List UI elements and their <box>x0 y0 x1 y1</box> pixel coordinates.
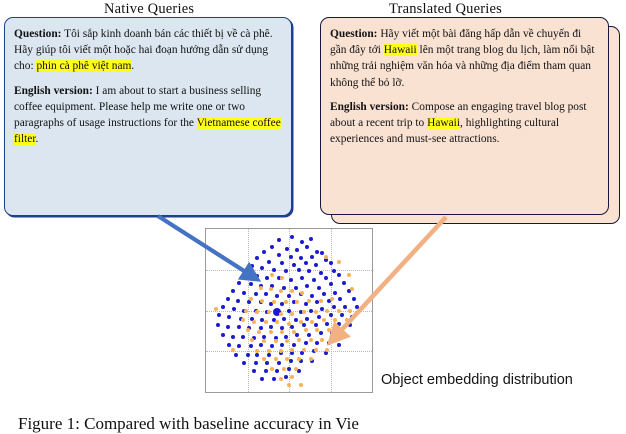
scatter-point <box>304 261 308 265</box>
scatter-point <box>295 300 299 304</box>
scatter-point <box>350 315 354 319</box>
scatter-point <box>277 238 281 242</box>
scatter-point <box>264 292 268 296</box>
scatter-point <box>337 309 341 313</box>
native-question-highlight: phin cà phê việt nam <box>36 60 131 72</box>
scatter-point <box>255 256 259 260</box>
scatter-point <box>242 291 246 295</box>
scatter-point <box>337 273 341 277</box>
scatter-point <box>290 235 294 239</box>
scatter-point <box>294 286 298 290</box>
scatter-point <box>290 289 294 293</box>
scatter-point <box>216 323 220 327</box>
scatter-point <box>257 330 261 334</box>
scatter-point <box>300 240 304 244</box>
scatter-point <box>272 377 276 381</box>
scatter-point <box>329 282 333 286</box>
scatter-point <box>330 331 334 335</box>
scatter-point <box>309 237 313 241</box>
scatter-point <box>287 322 291 326</box>
scatter-point <box>265 361 269 365</box>
scatter-point <box>300 276 304 280</box>
scatter-point <box>270 344 274 348</box>
scatter-point <box>252 320 256 324</box>
translated-english-highlight: Hawaii <box>427 117 460 129</box>
scatter-point <box>262 335 266 339</box>
scatter-point <box>226 297 230 301</box>
scatter-point <box>307 299 311 303</box>
figure-caption: Figure 1: Compared with baseline accurac… <box>18 414 359 434</box>
scatter-point <box>254 292 258 296</box>
scatter-point <box>231 348 235 352</box>
scatter-point <box>255 349 259 353</box>
scatter-point <box>345 318 349 322</box>
scatter-point <box>282 367 286 371</box>
native-question-label: Question: <box>14 28 61 40</box>
scatter-point <box>347 273 351 277</box>
scatter-point <box>242 361 246 365</box>
translated-english-paragraph: English version: Compose an engaging tra… <box>330 99 599 148</box>
scatter-point <box>241 318 245 322</box>
scatter-point <box>343 305 347 309</box>
scatter-point <box>342 281 346 285</box>
native-queries-card[interactable]: Question: Tôi sắp kinh doanh bán các thi… <box>4 17 292 216</box>
scatter-point <box>300 291 304 295</box>
scatter-point <box>333 291 337 295</box>
scatter-point <box>237 281 241 285</box>
scatter-point <box>267 310 271 314</box>
object-embedding-scatter-plot <box>205 228 373 393</box>
scatter-point <box>280 330 284 334</box>
scatter-point <box>302 348 306 352</box>
scatter-point <box>325 348 329 352</box>
scatter-point <box>237 325 241 329</box>
scatter-point <box>324 276 328 280</box>
scatter-point <box>314 323 318 327</box>
scatter-point <box>259 286 263 290</box>
scatter-point <box>320 338 324 342</box>
scatter-point <box>269 325 273 329</box>
scatter-point <box>324 255 328 259</box>
scatter-point <box>214 307 218 311</box>
scatter-point <box>280 276 284 280</box>
scatter-point <box>319 299 323 303</box>
scatter-point <box>231 335 235 339</box>
scatter-point <box>327 341 331 345</box>
scatter-point <box>294 318 298 322</box>
scatter-point <box>304 328 308 332</box>
scatter-point <box>342 333 346 337</box>
scatter-point <box>338 297 342 301</box>
scatter-point <box>305 317 309 321</box>
scatter-point <box>284 375 288 379</box>
scatter-point <box>289 255 293 259</box>
scatter-point <box>304 341 308 345</box>
scatter-point <box>262 250 266 254</box>
scatter-point <box>319 331 323 335</box>
scatter-point <box>314 263 318 267</box>
scatter-point <box>221 305 225 309</box>
scatter-point <box>250 338 254 342</box>
scatter-point <box>314 348 318 352</box>
scatter-point <box>327 328 331 332</box>
scatter-point <box>307 333 311 337</box>
scatter-point <box>312 278 316 282</box>
native-question-text-after: . <box>131 60 134 72</box>
scatter-point <box>340 313 344 317</box>
scatter-point <box>295 248 299 252</box>
scatter-point <box>246 353 250 357</box>
scatter-point <box>309 338 313 342</box>
scatter-point <box>299 320 303 324</box>
scatter-point <box>264 369 268 373</box>
scatter-point <box>337 343 341 347</box>
scatter-point <box>322 292 326 296</box>
native-queries-title: Native Queries <box>104 1 194 18</box>
scatter-point <box>246 328 250 332</box>
scatter-point <box>284 300 288 304</box>
scatter-point <box>315 250 319 254</box>
scatter-point <box>275 320 279 324</box>
scatter-point <box>307 269 311 273</box>
scatter-point <box>302 323 306 327</box>
scatter-point <box>250 264 254 268</box>
scatter-point <box>325 309 329 313</box>
scatter-point <box>279 312 283 316</box>
gridline-vertical <box>331 229 332 392</box>
scatter-point <box>299 383 303 387</box>
scatter-point <box>264 320 268 324</box>
scatter-point <box>329 313 333 317</box>
scatter-point <box>254 361 258 365</box>
native-english-label: English version: <box>14 85 93 97</box>
scatter-point <box>287 383 291 387</box>
scatter-point <box>292 343 296 347</box>
scatter-point <box>284 335 288 339</box>
scatter-point <box>236 299 240 303</box>
scatter-point <box>255 274 259 278</box>
scatter-point <box>310 255 314 259</box>
scatter-point <box>348 309 352 313</box>
scatter-point <box>290 312 294 316</box>
scatter-point <box>272 268 276 272</box>
scatter-point <box>275 294 279 298</box>
scatter-point <box>260 299 264 303</box>
scatter-point <box>270 245 274 249</box>
scatter-point <box>267 349 271 353</box>
scatter-point <box>315 341 319 345</box>
translated-question-paragraph: Question: Hãy viết một bài đăng hấp dẫn … <box>330 26 599 91</box>
scatter-point <box>249 282 253 286</box>
native-english-text-after: . <box>36 133 39 145</box>
scatter-point <box>310 294 314 298</box>
scatter-point <box>277 253 281 257</box>
scatter-point <box>317 315 321 319</box>
native-english-paragraph: English version: I am about to start a b… <box>14 83 282 148</box>
scatter-point <box>290 375 294 379</box>
scatter-point <box>249 344 253 348</box>
scatter-point <box>227 315 231 319</box>
scatter-point <box>337 322 341 326</box>
scatter-point <box>227 343 231 347</box>
scatter-point <box>275 369 279 373</box>
scatter-point <box>279 349 283 353</box>
scatter-point <box>314 310 318 314</box>
translated-question-highlight: Hawaii <box>384 44 417 56</box>
scatter-point <box>285 247 289 251</box>
scatter-point <box>221 333 225 337</box>
scatter-point <box>299 256 303 260</box>
scatter-point <box>249 297 253 301</box>
scatter-point <box>309 309 313 313</box>
scatter-point <box>330 297 334 301</box>
scatter-point <box>292 263 296 267</box>
scatter-point <box>267 353 271 357</box>
scatter-point <box>338 328 342 332</box>
scatter-point <box>297 268 301 272</box>
translated-question-label: Question: <box>330 28 377 40</box>
native-question-paragraph: Question: Tôi sắp kinh doanh bán các thi… <box>14 26 282 75</box>
translated-queries-title: Translated Queries <box>389 1 502 18</box>
scatter-point <box>259 343 263 347</box>
scatter-point <box>329 261 333 265</box>
scatter-point <box>355 305 359 309</box>
scatter-point <box>244 273 248 277</box>
scatter-point <box>269 330 273 334</box>
translated-queries-card[interactable]: Question: Hãy viết một bài đăng hấp dẫn … <box>320 17 609 215</box>
scatter-point <box>279 377 283 381</box>
scatter-point <box>234 353 238 357</box>
scatter-point <box>297 338 301 342</box>
scatter-point <box>332 269 336 273</box>
scatter-point <box>255 353 259 357</box>
scatter-point <box>290 325 294 329</box>
scatter-point <box>277 361 281 365</box>
scatter-point <box>294 367 298 371</box>
scatter-point <box>305 245 309 249</box>
scatter-point <box>269 287 273 291</box>
scatter-point <box>262 339 266 343</box>
scatter-point <box>289 359 293 363</box>
scatter-point <box>332 338 336 342</box>
scatter-point <box>284 269 288 273</box>
scatter-point <box>252 369 256 373</box>
scatter-point <box>348 323 352 327</box>
scatter-point <box>325 322 329 326</box>
scatter-point <box>305 284 309 288</box>
scatter-point <box>267 260 271 264</box>
plot-caption: Object embedding distribution <box>381 372 573 388</box>
scatter-point <box>270 367 274 371</box>
scatter-point <box>287 294 291 298</box>
scatter-point <box>217 313 221 317</box>
scatter-point <box>292 330 296 334</box>
scatter-point <box>274 339 278 343</box>
scatter-point <box>270 273 274 277</box>
scatter-point <box>289 278 293 282</box>
scatter-point <box>290 348 294 352</box>
scatter-point <box>302 310 306 314</box>
scatter-point <box>352 297 356 301</box>
scatter-point <box>244 309 248 313</box>
scatter-point <box>295 333 299 337</box>
scatter-point <box>272 300 276 304</box>
scatter-point <box>332 305 336 309</box>
scatter-point <box>337 260 341 264</box>
scatter-point <box>231 289 235 293</box>
figure-stage: Native Queries Translated Queries Questi… <box>0 0 626 434</box>
scatter-point <box>279 289 283 293</box>
scatter-point <box>241 335 245 339</box>
scatter-point <box>260 377 264 381</box>
scatter-point <box>287 367 291 371</box>
translated-english-label: English version: <box>330 101 409 113</box>
scatter-point <box>226 325 230 329</box>
scatter-point <box>319 271 323 275</box>
scatter-point <box>255 310 259 314</box>
scatter-point <box>280 343 284 347</box>
scatter-point <box>237 344 241 348</box>
scatter-point <box>280 261 284 265</box>
scatter-point <box>350 287 354 291</box>
scatter-point <box>282 317 286 321</box>
scatter-point <box>265 276 269 280</box>
scatter-point <box>317 286 321 290</box>
